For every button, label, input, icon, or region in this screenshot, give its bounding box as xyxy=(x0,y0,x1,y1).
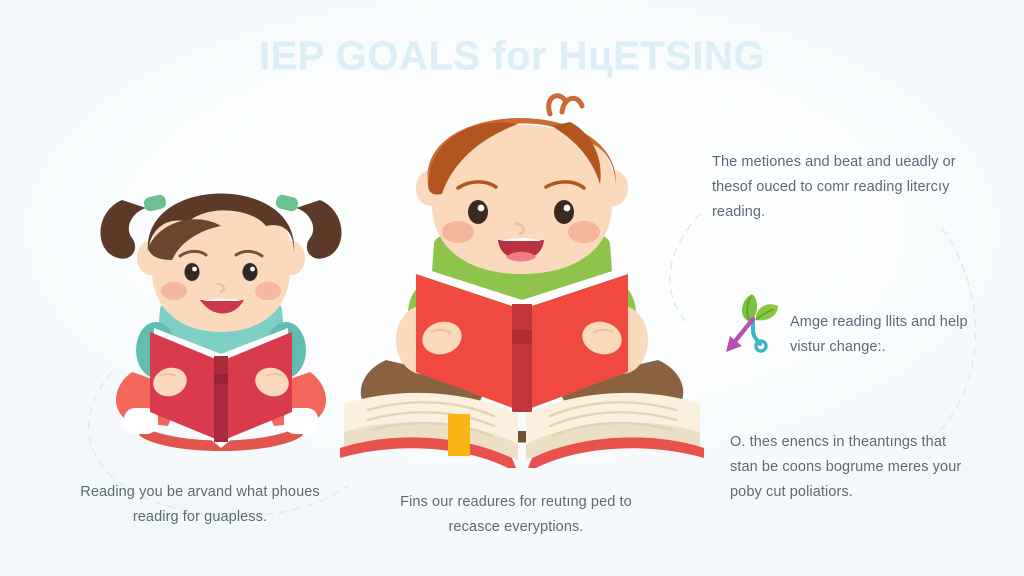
girl-reading-book-illustration xyxy=(88,160,354,460)
boy-reading-book-illustration xyxy=(338,92,706,472)
callout-text-right-2: Amge reading llits and help vistur chang… xyxy=(790,310,975,360)
callout-text-bottom-left: Reading you be arvand what phoues readir… xyxy=(78,480,322,530)
callout-text-right-1: The metiones and beat and ueadly or thes… xyxy=(712,150,962,225)
sprout-growth-arrow-icon xyxy=(722,288,788,358)
infographic-canvas: IEP GOALS for HцETSING xyxy=(0,0,1024,576)
callout-text-right-3: O. thes enencs in theantıngs that stan b… xyxy=(730,430,970,505)
callout-text-bottom-center: Fins our readures for reutıng ped to rec… xyxy=(400,490,632,540)
page-title: IEP GOALS for HцETSING xyxy=(0,34,1024,79)
